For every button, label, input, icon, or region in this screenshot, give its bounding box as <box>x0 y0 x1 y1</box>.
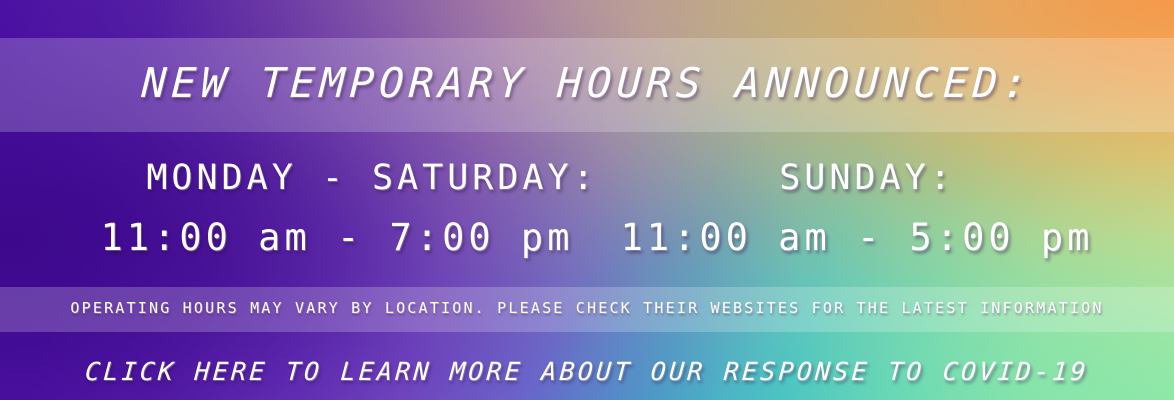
hours-disclaimer: OPERATING HOURS MAY VARY BY LOCATION. PL… <box>0 299 1174 317</box>
temporary-hours-banner: NEW TEMPORARY HOURS ANNOUNCED: MONDAY - … <box>0 0 1174 400</box>
covid-response-link[interactable]: CLICK HERE TO LEARN MORE ABOUT OUR RESPO… <box>0 357 1174 386</box>
sunday-time: 11:00 am - 5:00 pm <box>607 216 1107 259</box>
hours-labels-row: MONDAY - SATURDAY:SUNDAY: <box>0 158 1174 198</box>
weekday-time: 11:00 am - 7:00 pm <box>67 216 607 259</box>
hours-times-row: 11:00 am - 7:00 pm11:00 am - 5:00 pm <box>0 216 1174 259</box>
sunday-label: SUNDAY: <box>652 158 1082 198</box>
weekday-label: MONDAY - SATURDAY: <box>92 158 652 198</box>
banner-title: NEW TEMPORARY HOURS ANNOUNCED: <box>0 59 1174 107</box>
